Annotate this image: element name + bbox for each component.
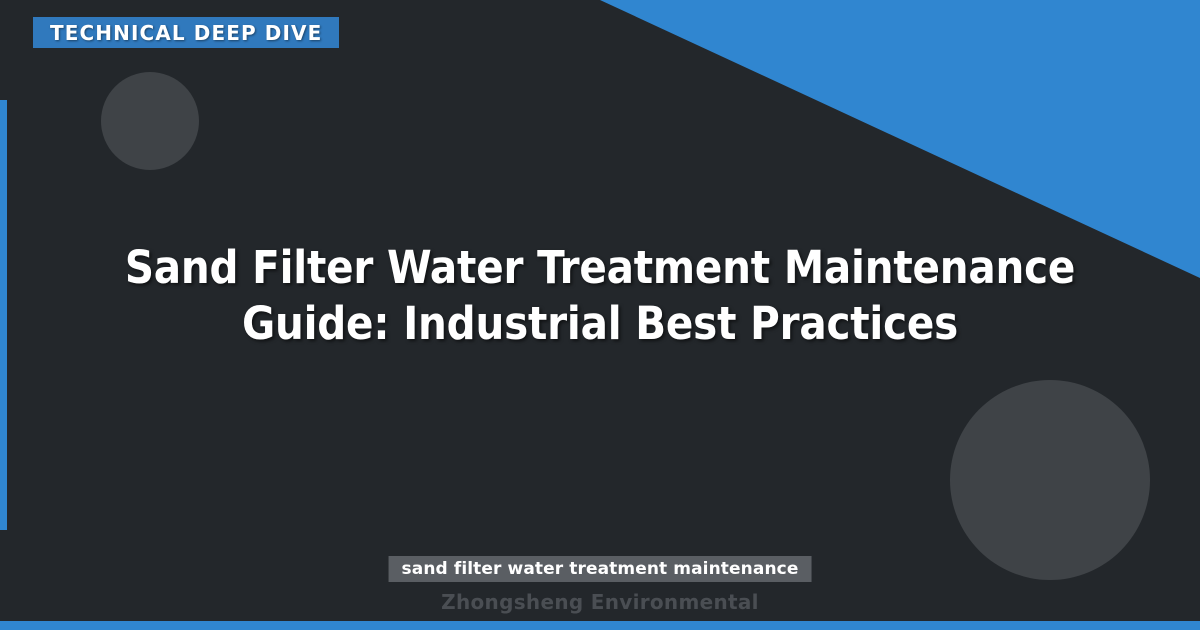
bottom-accent-bar xyxy=(0,621,1200,630)
keyword-tag-label: sand filter water treatment maintenance xyxy=(402,559,799,579)
brand-watermark: Zhongsheng Environmental xyxy=(0,590,1200,614)
title-block: Sand Filter Water Treatment Maintenance … xyxy=(0,240,1200,352)
social-card: TECHNICAL DEEP DIVE Sand Filter Water Tr… xyxy=(0,0,1200,630)
category-badge: TECHNICAL DEEP DIVE xyxy=(33,17,339,48)
page-title: Sand Filter Water Treatment Maintenance … xyxy=(95,240,1105,352)
keyword-tag: sand filter water treatment maintenance xyxy=(389,556,812,582)
decorative-circle-bottom-right xyxy=(950,380,1150,580)
decorative-circle-top-left xyxy=(101,72,199,170)
category-badge-label: TECHNICAL DEEP DIVE xyxy=(50,21,322,45)
